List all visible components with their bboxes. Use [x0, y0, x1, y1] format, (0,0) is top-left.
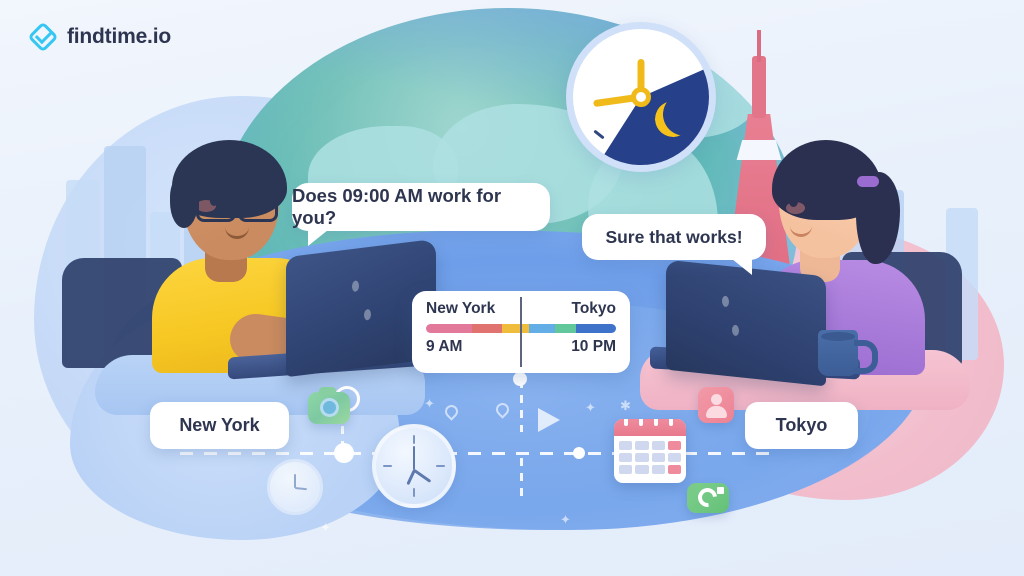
- character-eye: [789, 196, 798, 207]
- timezone-bar-segment: [472, 324, 502, 333]
- card-time-left: 9 AM: [426, 338, 462, 356]
- character-eye: [252, 196, 260, 206]
- character-eye: [820, 194, 829, 205]
- hair-tie: [857, 176, 879, 187]
- timezone-bar-segment: [426, 324, 472, 333]
- card-time-right: 10 PM: [571, 338, 616, 356]
- diamond-check-icon: [28, 22, 58, 52]
- brand-logo[interactable]: findtime.io: [28, 22, 171, 52]
- speech-bubble-new-york: Does 09:00 AM work for you?: [292, 183, 550, 231]
- clock-hub: [631, 87, 651, 107]
- timezone-bar-segment: [555, 324, 576, 333]
- sparkle-icon: ✦: [320, 520, 331, 536]
- timezone-bar-segment: [529, 324, 556, 333]
- coffee-mug-icon: [818, 330, 858, 376]
- timeline-connector: [520, 458, 523, 498]
- timezone-bar-segment: [502, 324, 529, 333]
- clock-tick: [593, 130, 604, 140]
- timeline-node[interactable]: [513, 372, 527, 386]
- camera-icon: [308, 392, 350, 424]
- timeline-connector: [520, 380, 523, 432]
- speech-bubble-tokyo: Sure that works!: [582, 214, 766, 260]
- card-city-right: Tokyo: [572, 300, 617, 318]
- refresh-icon: [687, 483, 729, 513]
- location-pill-new-york[interactable]: New York: [150, 402, 289, 449]
- calendar-icon: [614, 419, 686, 483]
- timeline: [180, 452, 780, 454]
- timeline-track: [180, 452, 780, 455]
- wall-clock-icon: [267, 459, 323, 515]
- brand-name: findtime.io: [67, 25, 171, 49]
- analog-clock-icon: [372, 424, 456, 508]
- character-eye: [210, 196, 218, 206]
- illustration-canvas: Does 09:00 AM work for you? Sure that wo…: [0, 0, 1024, 576]
- sparkle-icon: ✱: [620, 398, 631, 414]
- card-city-left: New York: [426, 300, 495, 318]
- day-night-clock-icon: [566, 22, 716, 172]
- user-icon: [698, 387, 734, 423]
- timeline-node[interactable]: [334, 443, 354, 463]
- send-plane-icon: [538, 408, 560, 432]
- sparkle-icon: ✦: [585, 400, 596, 416]
- timeline-node[interactable]: [573, 447, 585, 459]
- card-divider: [520, 297, 522, 367]
- timezone-bar-segment: [576, 324, 616, 333]
- character-hair-side: [170, 176, 198, 228]
- location-pill-tokyo[interactable]: Tokyo: [745, 402, 858, 449]
- sparkle-icon: ✦: [424, 396, 435, 412]
- sparkle-icon: ✦: [560, 512, 571, 528]
- timezone-comparison-card: New York Tokyo 9 AM 10 PM: [412, 291, 630, 373]
